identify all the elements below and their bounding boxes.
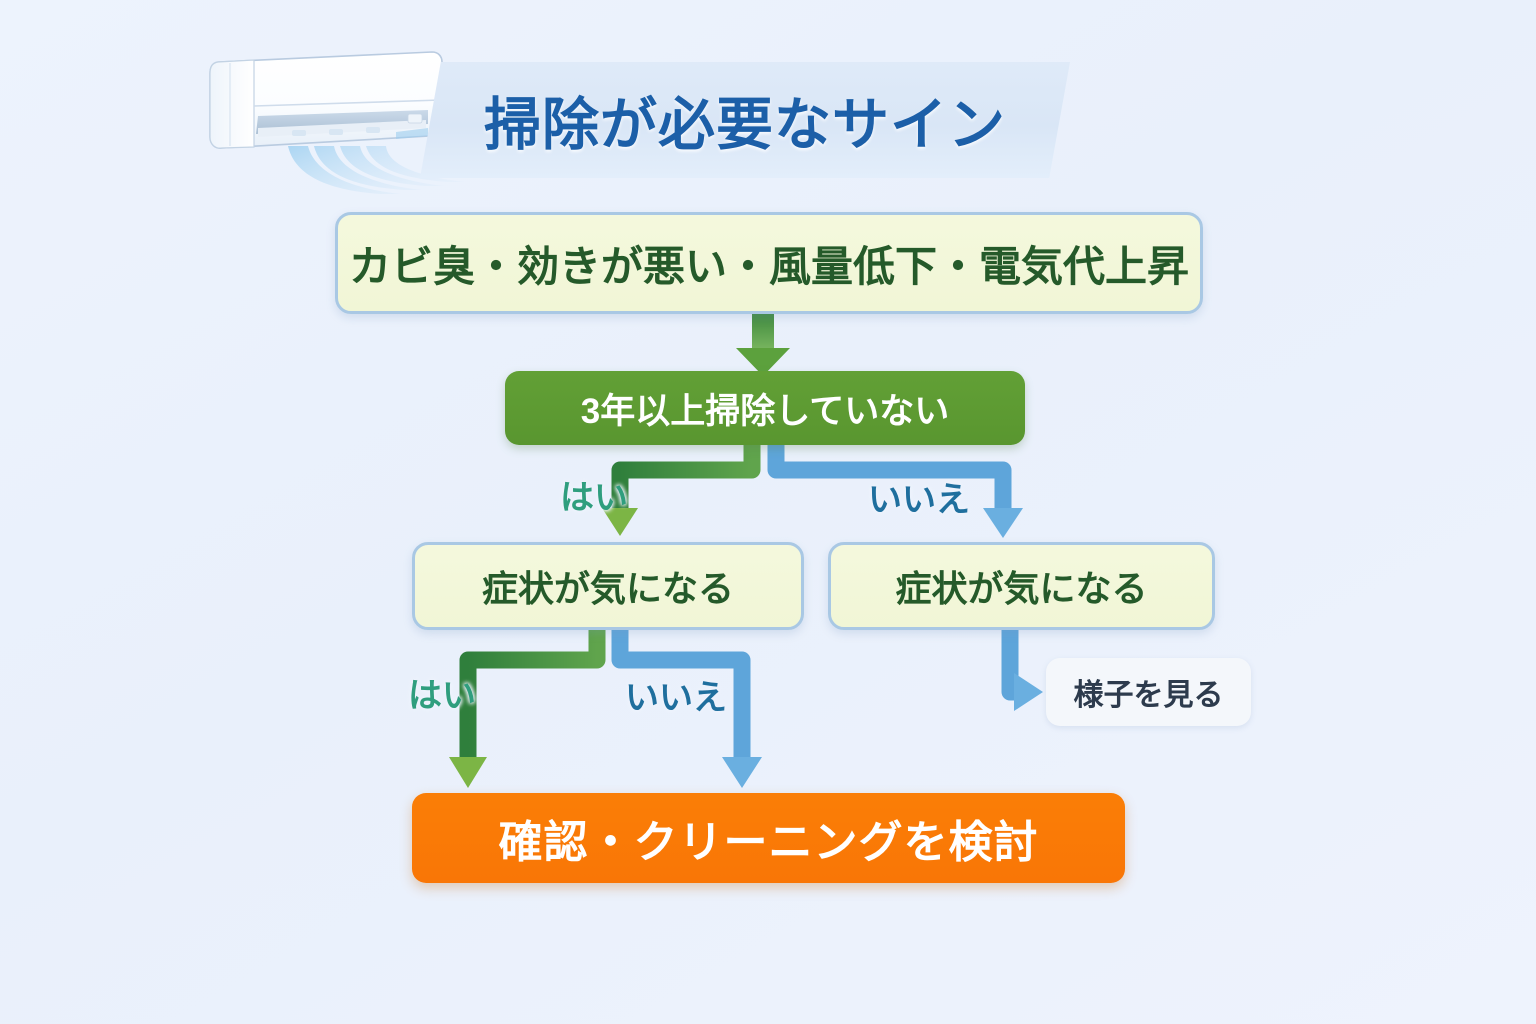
edge-label-no-question: いいえ [868,472,970,521]
edge-signs-to-question [736,314,790,376]
node-signs[interactable]: カビ臭・効きが悪い・風量低下・電気代上昇 [335,212,1203,314]
edge-label-yes-symptom: はい [408,668,476,717]
page-title: 掃除が必要なサイン [420,62,1070,178]
edge-symptom-right-watch [1010,630,1043,711]
edge-label-no-symptom: いいえ [625,670,727,719]
flowchart-canvas: 掃除が必要なサイン [0,0,1536,1024]
node-symptom-left[interactable]: 症状が気になる [412,542,804,630]
node-watch-and-see[interactable]: 様子を見る [1046,658,1251,726]
air-conditioner-body [210,52,442,148]
node-question-three-years[interactable]: 3年以上掃除していない [505,371,1025,445]
edge-label-yes-question: はい [560,470,628,519]
node-result-consider-cleaning[interactable]: 確認・クリーニングを検討 [412,793,1125,883]
node-symptom-right[interactable]: 症状が気になる [828,542,1215,630]
